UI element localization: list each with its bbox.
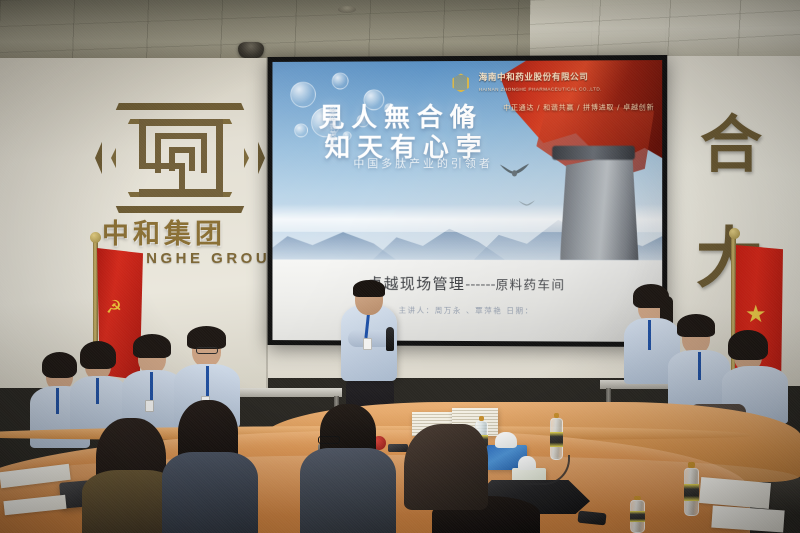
wall-company-name-cn: 中和集团: [102, 212, 262, 248]
lanyard: [150, 372, 153, 400]
corporate-name-en: HAINAN ZHONGHE PHARMACEUTICAL CO.,LTD.: [479, 87, 602, 92]
projected-slide: 海南中和药业股份有限公司 HAINAN ZHONGHE PHARMACEUTIC…: [272, 60, 662, 342]
eyeglasses-icon: [318, 436, 340, 444]
ceiling: [0, 0, 800, 62]
lanyard: [698, 352, 701, 380]
beacon-tower-icon: [560, 152, 639, 260]
seal-script-text: 舉俗書美上: [321, 107, 337, 157]
presentation-title-row: 卓越现场管理------原料药车间: [272, 272, 662, 294]
corporate-name-cn: 海南中和药业股份有限公司: [479, 70, 589, 83]
chair-backrest: [404, 424, 488, 510]
hammer-sickle-icon: ☭: [104, 296, 124, 318]
maze-glyph-icon: [139, 119, 223, 197]
smoke-detector-icon: [338, 6, 356, 13]
lanyard: [56, 388, 59, 414]
projector-screen-frame: 海南中和药业股份有限公司 HAINAN ZHONGHE PHARMACEUTIC…: [268, 55, 668, 347]
eagle-icon: [493, 162, 536, 180]
ceiling-bright-grid: [530, 0, 800, 62]
lanyard: [648, 320, 651, 350]
beacon-tower-cap: [552, 146, 635, 160]
water-bottle: [684, 468, 699, 516]
person-shoulders: [300, 448, 396, 533]
person-hair: [187, 326, 226, 349]
badge-card: [145, 400, 154, 412]
wall-char-he: 合: [700, 94, 762, 184]
ceiling-bright-panel: [530, 0, 800, 62]
person-hair: [42, 352, 77, 378]
person-shoulders: [162, 452, 258, 533]
corporate-hexagon-mark-icon: [452, 73, 469, 92]
hexagon-emblem-icon: [95, 103, 265, 213]
presenter-hair: [353, 280, 385, 297]
person-hair: [80, 341, 116, 369]
lanyard: [206, 366, 209, 396]
slide-subtitle: 中国多肽产业的引领者: [353, 155, 492, 171]
microphone-icon: [386, 327, 394, 351]
slide-sky-background: 海南中和药业股份有限公司 HAINAN ZHONGHE PHARMACEUTIC…: [272, 60, 662, 260]
title-dash: ------: [465, 277, 495, 293]
person-hair: [677, 314, 715, 337]
water-bottle: [630, 500, 645, 533]
flagpole-finial-right-icon: [729, 228, 740, 239]
calligraphy-line-1: 見人無合脩: [319, 102, 560, 133]
desk-clutter: [388, 444, 408, 452]
person-hair: [728, 330, 768, 360]
presenter-badge: [363, 338, 372, 350]
flag-star-icon: ★: [745, 300, 767, 329]
lanyard: [96, 378, 99, 404]
eyeglasses-icon: [196, 347, 218, 354]
tissue-sheet-icon: [495, 432, 517, 448]
person-hair: [133, 334, 171, 358]
presentation-subject: 原料药车间: [496, 277, 566, 292]
eagle-icon-small: [513, 198, 540, 208]
meeting-room-scene: 中和集团 ZHONGHE GROUP 合 大 ☭ ★: [0, 0, 800, 533]
presenter-meta-line: 主讲人：周万永 、覃萍艳 日期：: [272, 305, 662, 317]
water-bottle: [550, 418, 563, 460]
dome-security-camera-icon: [238, 42, 264, 58]
slide-corporate-logo: 海南中和药业股份有限公司 HAINAN ZHONGHE PHARMACEUTIC…: [450, 70, 654, 103]
slide-calligraphy-headline: 舉俗書美上 見人無合脩 知天有心孛: [319, 102, 560, 163]
slide-title-band: 卓越现场管理------原料药车间 主讲人：周万永 、覃萍艳 日期：: [272, 259, 662, 342]
flagpole-finial-left-icon: [90, 232, 101, 243]
